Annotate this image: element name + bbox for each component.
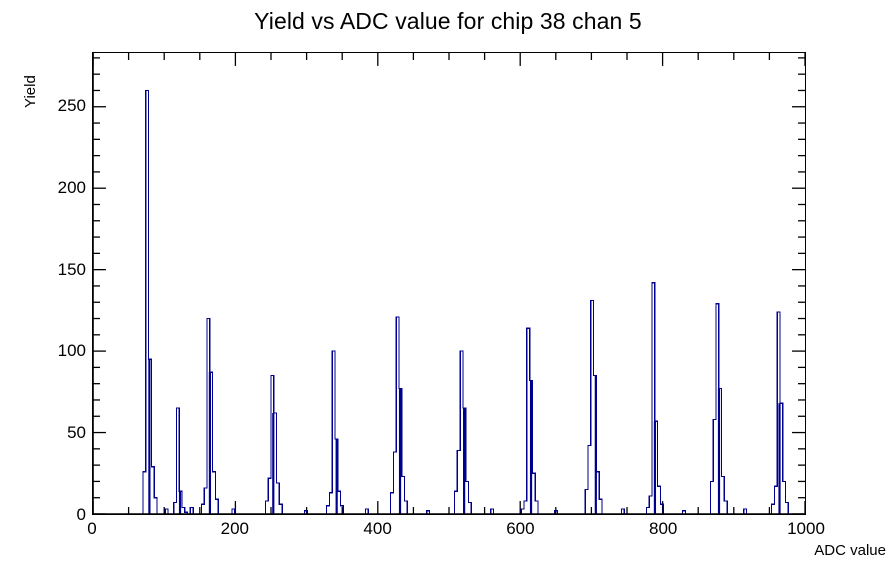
histogram-svg: [93, 53, 805, 514]
x-tick-label: 800: [649, 519, 677, 539]
y-tick-label: 100: [8, 341, 86, 361]
histogram-peak-core: [272, 413, 274, 514]
root-canvas: Yield vs ADC value for chip 38 chan 5 Yi…: [0, 0, 896, 572]
x-tick-label: 400: [363, 519, 391, 539]
x-tick-label: 600: [506, 519, 534, 539]
y-tick-label: 0: [8, 505, 86, 525]
x-tick-label: 200: [221, 519, 249, 539]
y-tick-label: 250: [8, 96, 86, 116]
chart-title: Yield vs ADC value for chip 38 chan 5: [0, 8, 896, 35]
histogram-peak-core: [336, 439, 338, 514]
histogram-peak-core: [399, 389, 401, 514]
histogram-peak-core: [530, 380, 532, 514]
histogram-peak-core: [595, 376, 597, 514]
histogram-peak-core: [209, 372, 211, 514]
histogram-peak-core: [654, 421, 656, 514]
y-tick-label: 150: [8, 260, 86, 280]
plot-frame: [92, 52, 806, 515]
histogram-outline: [93, 90, 805, 514]
histogram-peak-core: [778, 403, 780, 514]
x-tick-label: 1000: [787, 519, 825, 539]
histogram-peak-core: [718, 389, 720, 514]
histogram-peak-core: [148, 359, 150, 514]
y-tick-label-group: 050100150200250: [0, 0, 86, 572]
y-tick-label: 200: [8, 178, 86, 198]
histogram-peak-core: [463, 408, 465, 514]
x-tick-label: 0: [87, 519, 96, 539]
y-tick-label: 50: [8, 423, 86, 443]
histogram-peak-core: [179, 491, 181, 514]
x-axis-title: ADC value: [814, 542, 886, 559]
